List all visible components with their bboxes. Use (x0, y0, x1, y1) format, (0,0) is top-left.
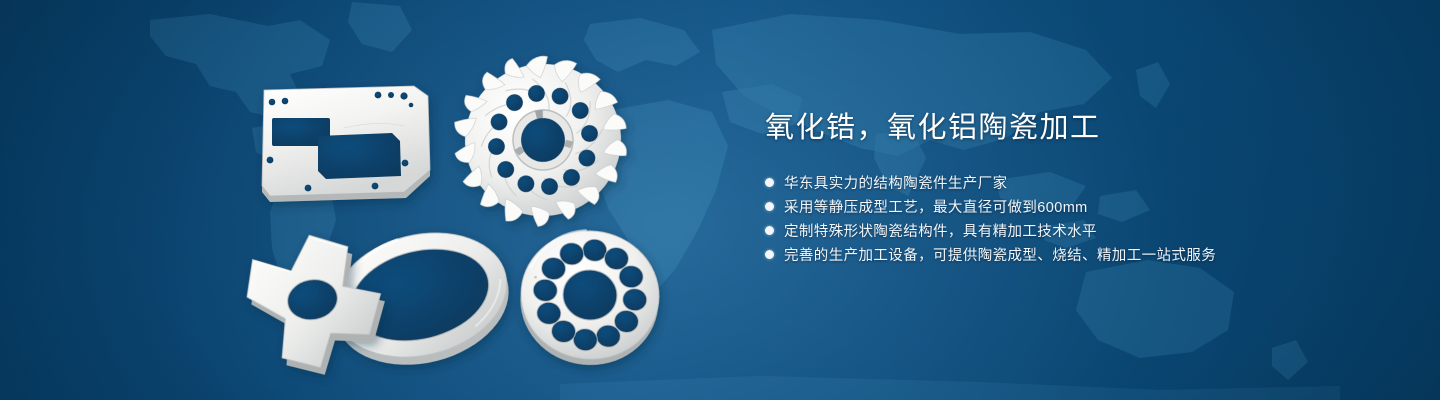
list-item: 定制特殊形状陶瓷结构件，具有精加工技术水平 (765, 218, 1405, 242)
list-item-label: 完善的生产加工设备，可提供陶瓷成型、烧结、精加工一站式服务 (784, 244, 1216, 265)
list-item: 完善的生产加工设备，可提供陶瓷成型、烧结、精加工一站式服务 (765, 242, 1405, 266)
bullet-dot-icon (765, 226, 774, 235)
ceramic-impeller-wheel (443, 44, 638, 236)
list-item-label: 华东具实力的结构陶瓷件生产厂家 (784, 172, 1008, 193)
list-item: 采用等静压成型工艺，最大直径可做到600mm (765, 194, 1405, 218)
hero-banner: 氧化锆，氧化铝陶瓷加工 华东具实力的结构陶瓷件生产厂家 采用等静压成型工艺，最大… (0, 0, 1440, 400)
bullet-dot-icon (765, 250, 774, 259)
bullet-dot-icon (765, 178, 774, 187)
banner-copy: 氧化锆，氧化铝陶瓷加工 华东具实力的结构陶瓷件生产厂家 采用等静压成型工艺，最大… (765, 110, 1405, 266)
feature-list: 华东具实力的结构陶瓷件生产厂家 采用等静压成型工艺，最大直径可做到600mm 定… (765, 170, 1405, 266)
page-title: 氧化锆，氧化铝陶瓷加工 (765, 110, 1405, 146)
ceramic-products-collage (0, 0, 720, 400)
ceramic-cross-plate (238, 224, 395, 385)
list-item-label: 定制特殊形状陶瓷结构件，具有精加工技术水平 (784, 220, 1097, 241)
list-item-label: 采用等静压成型工艺，最大直径可做到600mm (784, 196, 1088, 217)
list-item: 华东具实力的结构陶瓷件生产厂家 (765, 170, 1405, 194)
bullet-dot-icon (765, 202, 774, 211)
ceramic-plate-rectangular (262, 86, 430, 202)
ceramic-valve-plate (514, 224, 665, 372)
